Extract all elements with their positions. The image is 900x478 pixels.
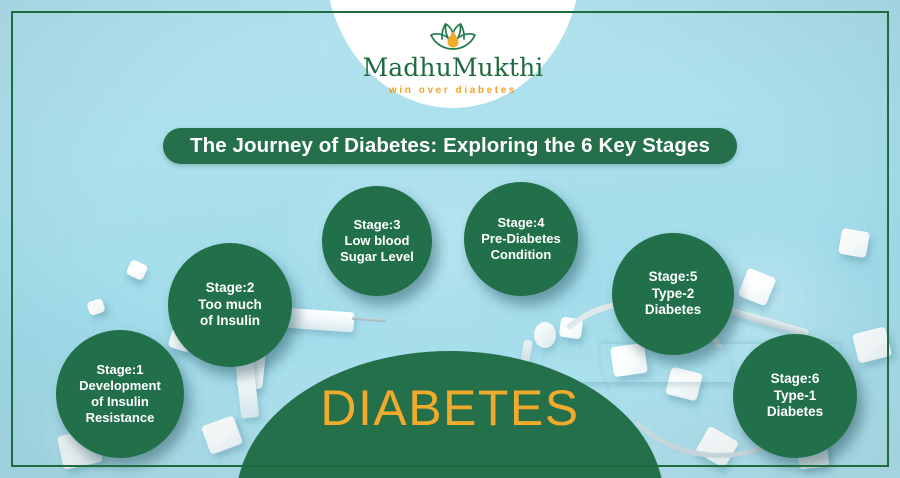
stage-3-line-2: Low blood bbox=[345, 233, 410, 248]
stage-bubble-1[interactable]: Stage:1 Development of Insulin Resistanc… bbox=[56, 330, 184, 458]
stage-bubble-2-label: Stage:2 Too much of Insulin bbox=[192, 280, 268, 329]
stage-bubble-3-label: Stage:3 Low blood Sugar Level bbox=[334, 217, 420, 265]
brand-wordmark: MadhuMukthi bbox=[363, 55, 544, 80]
stage-3-line-1: Stage:3 bbox=[354, 217, 401, 232]
stage-2-line-2: Too much bbox=[198, 297, 262, 312]
stage-4-line-2: Pre-Diabetes bbox=[481, 231, 560, 246]
brand-tagline: win over diabetes bbox=[389, 85, 517, 96]
stage-6-line-2: Type-1 bbox=[774, 388, 817, 403]
stage-6-line-1: Stage:6 bbox=[771, 371, 820, 386]
brand-logo[interactable]: MadhuMukthi win over diabetes bbox=[325, 12, 581, 108]
stage-6-line-3: Diabetes bbox=[767, 404, 823, 419]
stage-bubble-4[interactable]: Stage:4 Pre-Diabetes Condition bbox=[464, 182, 578, 296]
infographic-canvas: MadhuMukthi win over diabetes The Journe… bbox=[0, 0, 900, 478]
stage-bubble-5[interactable]: Stage:5 Type-2 Diabetes bbox=[612, 233, 734, 355]
brand-wordmark-part1: Madhu bbox=[363, 53, 452, 82]
stage-2-line-1: Stage:2 bbox=[206, 280, 255, 295]
stage-4-line-1: Stage:4 bbox=[498, 215, 545, 230]
page-title: The Journey of Diabetes: Exploring the 6… bbox=[163, 128, 737, 164]
stage-3-line-3: Sugar Level bbox=[340, 249, 414, 264]
stage-4-line-3: Condition bbox=[491, 247, 552, 262]
stage-bubble-2[interactable]: Stage:2 Too much of Insulin bbox=[168, 243, 292, 367]
stage-1-line-1: Stage:1 bbox=[97, 362, 144, 377]
stage-2-line-3: of Insulin bbox=[200, 313, 260, 328]
lotus-flower-drop-icon bbox=[418, 12, 488, 54]
stage-1-line-3: of Insulin bbox=[91, 394, 149, 409]
stage-1-line-2: Development bbox=[79, 378, 161, 393]
stage-1-line-4: Resistance bbox=[86, 410, 155, 425]
stage-5-line-1: Stage:5 bbox=[649, 269, 698, 284]
stage-bubble-6-label: Stage:6 Type-1 Diabetes bbox=[761, 371, 829, 420]
stage-bubble-1-label: Stage:1 Development of Insulin Resistanc… bbox=[73, 362, 167, 425]
stage-bubble-5-label: Stage:5 Type-2 Diabetes bbox=[639, 269, 707, 318]
stage-bubble-4-label: Stage:4 Pre-Diabetes Condition bbox=[475, 215, 566, 263]
brand-wordmark-part2: Mukthi bbox=[452, 53, 544, 82]
center-label: DIABETES bbox=[236, 379, 664, 437]
stage-bubble-3[interactable]: Stage:3 Low blood Sugar Level bbox=[322, 186, 432, 296]
stage-bubble-6[interactable]: Stage:6 Type-1 Diabetes bbox=[733, 334, 857, 458]
stage-5-line-2: Type-2 bbox=[652, 286, 695, 301]
stage-5-line-3: Diabetes bbox=[645, 302, 701, 317]
